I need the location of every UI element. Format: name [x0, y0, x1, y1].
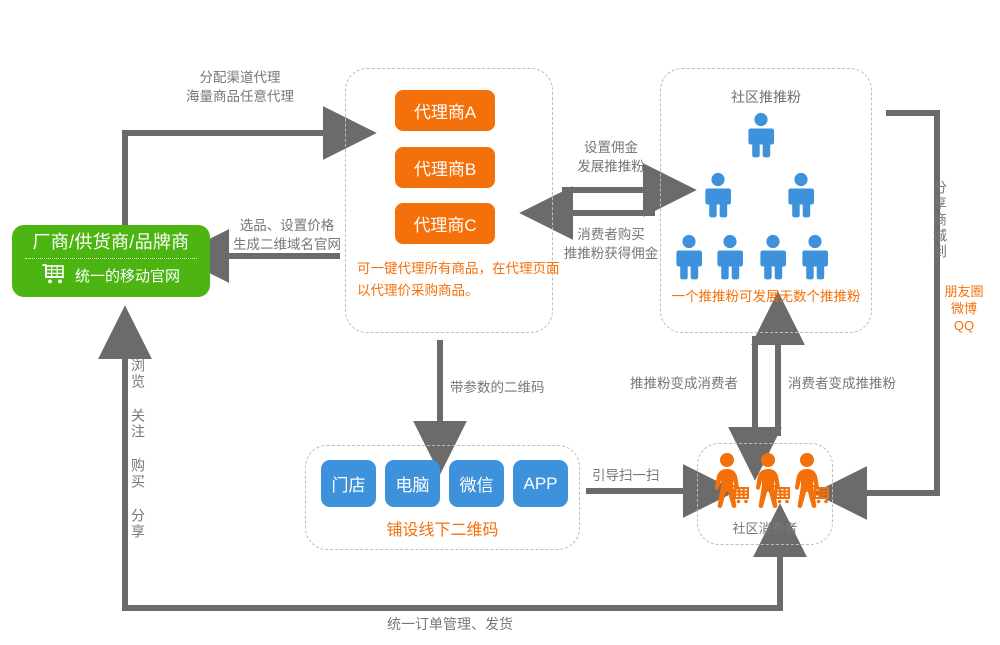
agent-pill-b[interactable]: 代理商B [395, 147, 495, 188]
label-channels-to-consumers: 引导扫一扫 [592, 466, 672, 485]
label-agents-to-channels: 带参数的二维码 [450, 378, 570, 397]
label-supplier-order-path: 统一订单管理、发货 [330, 615, 570, 634]
shopping-cart-icon [42, 264, 68, 289]
channel-label-pc: 电脑 [396, 471, 430, 496]
person-with-cart-icon [711, 452, 751, 515]
person-icon [757, 234, 789, 285]
fans-title: 社区推推粉 [660, 88, 872, 107]
consumers-caption: 社区消费者 [697, 518, 833, 537]
diagram-canvas: 厂商/供货商/品牌商 统一的移动官网 代理商A 代理商B [0, 0, 1000, 645]
person-with-cart-icon [752, 452, 792, 515]
channel-label-wechat: 微信 [460, 471, 494, 496]
label-consumers-to-supplier: 浏览 关注 购买 分享 [128, 358, 148, 540]
channel-pill-wechat[interactable]: 微信 [449, 460, 504, 507]
channel-label-app: APP [523, 474, 557, 494]
channel-pill-pc[interactable]: 电脑 [385, 460, 440, 507]
label-share-mall: 分享商城到 [930, 180, 950, 260]
line-supplier-order-path [125, 550, 780, 608]
label-fans-to-consumers: 推推粉变成消费者 [630, 374, 750, 393]
agent-pill-a[interactable]: 代理商A [395, 90, 495, 131]
supplier-divider [25, 258, 197, 259]
person-icon [714, 234, 746, 285]
agent-label-b: 代理商B [414, 155, 476, 180]
agents-note: 可一键代理所有商品，在代理页面以代理价采购商品。 [357, 258, 572, 302]
person-icon [745, 112, 777, 163]
label-agents-to-fans: 设置佣金 发展推推粉 [556, 138, 666, 176]
person-icon [785, 172, 817, 223]
agent-label-a: 代理商A [414, 98, 476, 123]
label-share-mall-targets: 朋友圈 微博 QQ [944, 283, 984, 334]
channel-pill-app[interactable]: APP [513, 460, 568, 507]
channels-note: 铺设线下二维码 [305, 516, 580, 540]
supplier-card[interactable]: 厂商/供货商/品牌商 统一的移动官网 [12, 225, 210, 297]
supplier-subtitle: 统一的移动官网 [75, 269, 180, 284]
supplier-title: 厂商/供货商/品牌商 [32, 233, 189, 255]
person-with-cart-icon [791, 452, 831, 515]
label-fans-to-agents: 消费者购买 推推粉获得佣金 [550, 225, 672, 263]
channel-label-store: 门店 [332, 471, 366, 496]
label-agents-to-supplier: 选品、设置价格 生成二维域名官网 [222, 216, 352, 254]
agent-label-c: 代理商C [413, 211, 476, 236]
channel-pill-store[interactable]: 门店 [321, 460, 376, 507]
person-icon [799, 234, 831, 285]
fans-note: 一个推推粉可发展无数个推推粉 [660, 285, 872, 305]
person-icon [673, 234, 705, 285]
person-icon [702, 172, 734, 223]
label-consumers-to-fans: 消费者变成推推粉 [788, 374, 908, 393]
agent-pill-c[interactable]: 代理商C [395, 203, 495, 244]
label-supplier-to-agents: 分配渠道代理 海量商品任意代理 [140, 68, 340, 106]
